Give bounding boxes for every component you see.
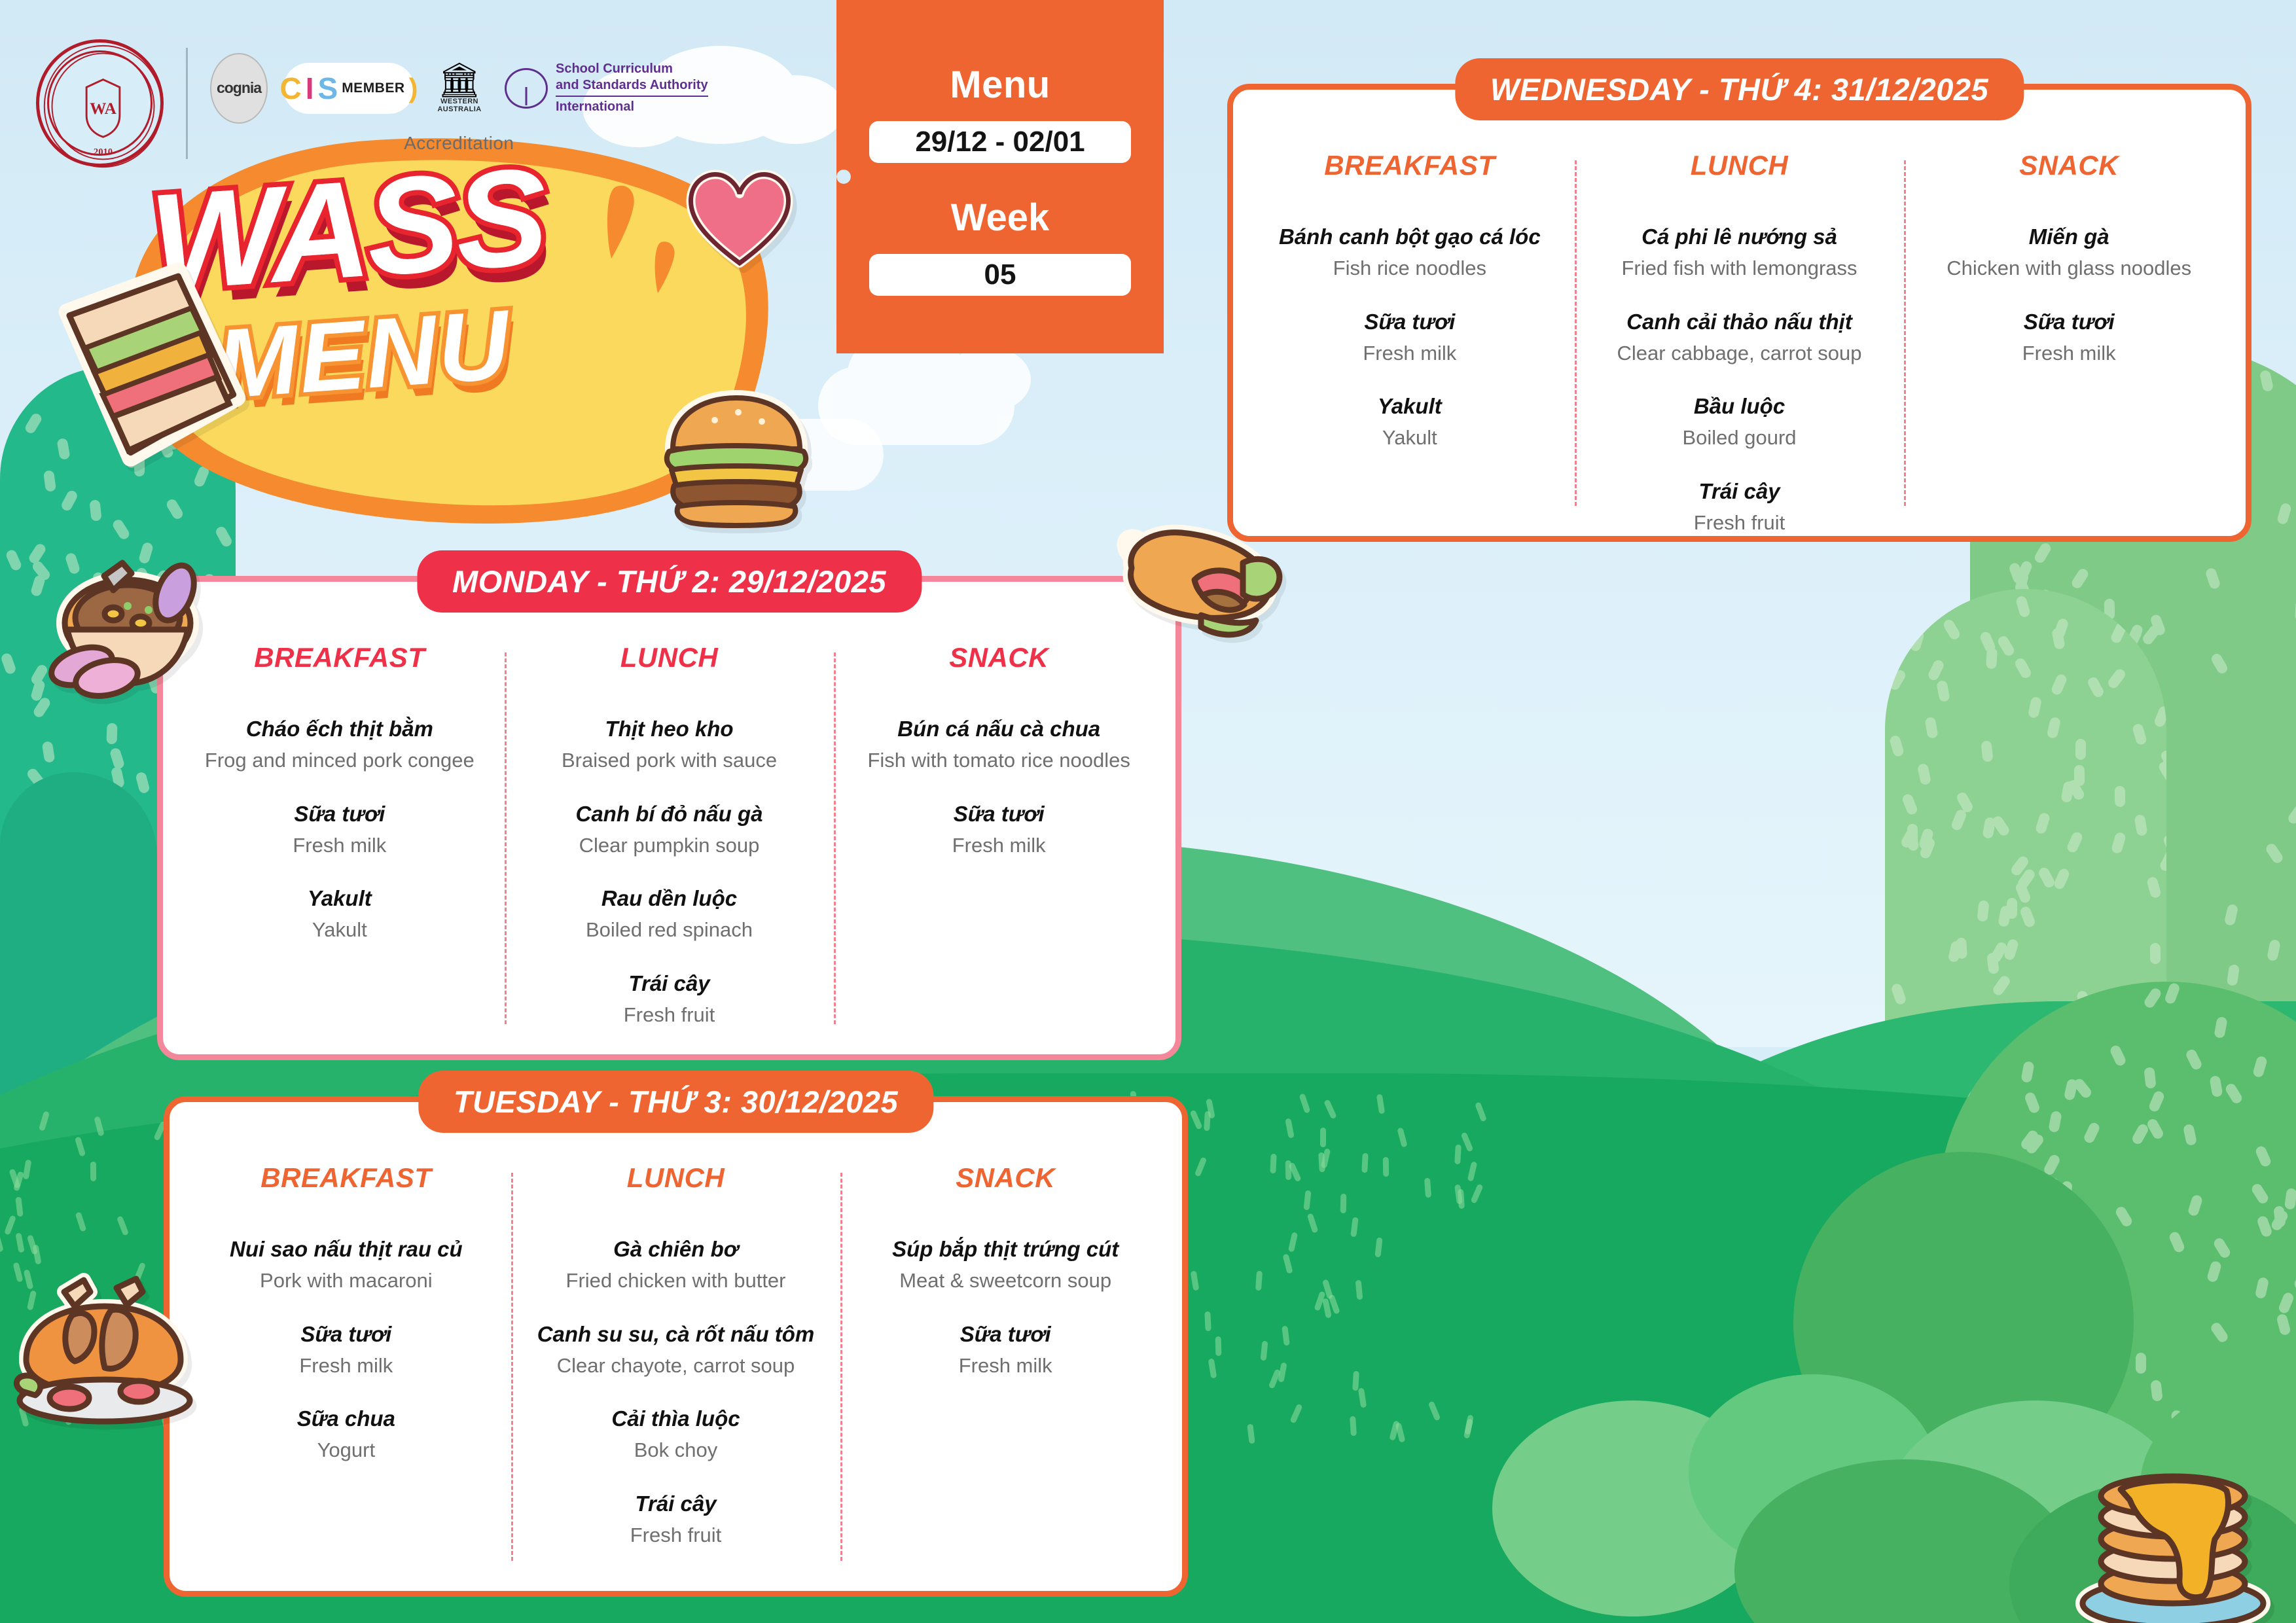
column-lunch: LUNCH Thịt heo khoBraised pork with sauc… bbox=[505, 642, 834, 1035]
item-en: Fresh fruit bbox=[1694, 510, 1785, 536]
item-vn: Sữa tươi bbox=[959, 1321, 1052, 1347]
week-number-field[interactable]: 05 bbox=[869, 254, 1131, 296]
hotdog-sticker bbox=[1109, 517, 1299, 668]
column-breakfast: BREAKFAST Bánh canh bột gạo cá lócFish r… bbox=[1245, 150, 1575, 516]
scsa-line2: and Standards Authority bbox=[556, 77, 708, 94]
item-vn: Trái cây bbox=[624, 970, 715, 997]
menu-panel-title: Menu bbox=[836, 63, 1164, 107]
menu-item: Cá phi lê nướng sảFried fish with lemong… bbox=[1621, 223, 1857, 282]
wass-seal-logo: WA 2010 bbox=[36, 39, 164, 167]
item-vn: Rau dền luộc bbox=[586, 885, 753, 912]
column-snack: SNACK Miến gàChicken with glass noodles … bbox=[1904, 150, 2234, 516]
day-header-tuesday: TUESDAY - THỨ 3: 30/12/2025 bbox=[418, 1071, 933, 1133]
item-vn: Cháo ếch thịt bằm bbox=[205, 715, 475, 742]
menu-item: Gà chiên bơFried chicken with butter bbox=[566, 1236, 786, 1294]
cis-letter-s: S bbox=[318, 71, 338, 106]
column-lunch: LUNCH Cá phi lê nướng sảFried fish with … bbox=[1575, 150, 1905, 516]
item-en: Yogurt bbox=[297, 1437, 395, 1463]
day-card-tuesday: TUESDAY - THỨ 3: 30/12/2025 BREAKFAST Nu… bbox=[164, 1096, 1188, 1597]
week-panel-title: Week bbox=[836, 196, 1164, 240]
pancake-stack-sticker bbox=[2075, 1466, 2271, 1623]
menu-item: Sữa tươiFresh milk bbox=[293, 800, 386, 859]
item-vn: Miến gà bbox=[1946, 223, 2191, 250]
day-header-wednesday: WEDNESDAY - THỨ 4: 31/12/2025 bbox=[1455, 58, 2024, 120]
menu-item: Cháo ếch thịt bằmFrog and minced pork co… bbox=[205, 715, 475, 774]
column-breakfast: BREAKFAST Cháo ếch thịt bằmFrog and minc… bbox=[175, 642, 505, 1035]
item-vn: Yakult bbox=[1378, 393, 1442, 419]
menu-item: Trái câyFresh fruit bbox=[1694, 478, 1785, 537]
roast-chicken-sticker bbox=[7, 1270, 203, 1433]
item-en: Chicken with glass noodles bbox=[1946, 255, 2191, 281]
cis-paren: ) bbox=[409, 73, 418, 104]
day-card-wednesday: WEDNESDAY - THỨ 4: 31/12/2025 BREAKFAST … bbox=[1227, 84, 2251, 542]
item-vn: Canh su su, cà rốt nấu tôm bbox=[537, 1321, 815, 1347]
menu-item: YakultYakult bbox=[1378, 393, 1442, 452]
meal-label-breakfast: BREAKFAST bbox=[254, 642, 425, 673]
item-en: Fresh milk bbox=[1363, 340, 1456, 366]
item-en: Fish with tomato rice noodles bbox=[867, 747, 1130, 774]
menu-poster: WA 2010 cognia C I S MEMBER ) 🏛 WESTE bbox=[0, 0, 2296, 1623]
meal-label-lunch: LUNCH bbox=[1691, 150, 1788, 181]
menu-item: YakultYakult bbox=[308, 885, 372, 944]
column-lunch: LUNCH Gà chiên bơFried chicken with butt… bbox=[511, 1162, 841, 1571]
menu-item: Thịt heo khoBraised pork with sauce bbox=[562, 715, 777, 774]
item-vn: Bún cá nấu cà chua bbox=[867, 715, 1130, 742]
item-vn: Trái cây bbox=[630, 1490, 722, 1517]
cis-letter-c: C bbox=[279, 71, 301, 106]
item-vn: Bánh canh bột gạo cá lóc bbox=[1279, 223, 1541, 250]
menu-item: Canh su su, cà rốt nấu tômClear chayote,… bbox=[537, 1321, 815, 1380]
item-vn: Sữa tươi bbox=[1363, 308, 1456, 335]
menu-item: Sữa tươiFresh milk bbox=[2022, 308, 2116, 367]
scsa-line1: School Curriculum bbox=[556, 61, 708, 77]
cis-member-label: MEMBER bbox=[342, 80, 404, 96]
item-vn: Yakult bbox=[308, 885, 372, 912]
item-vn: Canh bí đỏ nấu gà bbox=[576, 800, 763, 827]
sandwich-sticker bbox=[39, 255, 255, 497]
column-snack: SNACK Bún cá nấu cà chuaFish with tomato… bbox=[834, 642, 1164, 1035]
item-en: Fried fish with lemongrass bbox=[1621, 255, 1857, 281]
item-vn: Cá phi lê nướng sả bbox=[1621, 223, 1857, 250]
heart-sticker bbox=[681, 164, 798, 272]
item-en: Braised pork with sauce bbox=[562, 747, 777, 774]
item-en: Yakult bbox=[308, 917, 372, 943]
item-en: Fresh fruit bbox=[630, 1522, 722, 1548]
crest-label: WESTERN AUSTRALIA bbox=[430, 98, 489, 113]
item-en: Clear chayote, carrot soup bbox=[537, 1353, 815, 1379]
menu-item: Sữa tươiFresh milk bbox=[959, 1321, 1052, 1380]
accreditation-label: Accreditation bbox=[404, 133, 514, 154]
western-australia-crest-logo: 🏛 WESTERN AUSTRALIA bbox=[430, 63, 489, 113]
item-vn: Canh cải thảo nấu thịt bbox=[1617, 308, 1862, 335]
item-en: Fried chicken with butter bbox=[566, 1268, 786, 1294]
day-card-monday: MONDAY - THỨ 2: 29/12/2025 BREAKFAST Chá… bbox=[157, 576, 1181, 1060]
item-en: Fresh milk bbox=[959, 1353, 1052, 1379]
item-en: Meat & sweetcorn soup bbox=[892, 1268, 1119, 1294]
item-en: Fresh milk bbox=[2022, 340, 2116, 366]
menu-item: Sữa tươiFresh milk bbox=[299, 1321, 393, 1380]
menu-item: Súp bắp thịt trứng cútMeat & sweetcorn s… bbox=[892, 1236, 1119, 1294]
scsa-tree-icon bbox=[505, 68, 548, 109]
column-snack: SNACK Súp bắp thịt trứng cútMeat & sweet… bbox=[840, 1162, 1170, 1571]
item-vn: Gà chiên bơ bbox=[566, 1236, 786, 1262]
menu-item: Bánh canh bột gạo cá lócFish rice noodle… bbox=[1279, 223, 1541, 282]
item-en: Fresh milk bbox=[952, 832, 1046, 859]
menu-item: Sữa tươiFresh milk bbox=[952, 800, 1046, 859]
item-vn: Súp bắp thịt trứng cút bbox=[892, 1236, 1119, 1262]
menu-week-panel: Menu 29/12 - 02/01 Week 05 bbox=[836, 0, 1164, 353]
meal-label-snack: SNACK bbox=[956, 1162, 1055, 1194]
item-en: Fresh milk bbox=[293, 832, 386, 859]
cognia-label: cognia bbox=[217, 79, 261, 97]
menu-item: Miến gàChicken with glass noodles bbox=[1946, 223, 2191, 282]
item-vn: Sữa tươi bbox=[952, 800, 1046, 827]
meal-label-snack: SNACK bbox=[2019, 150, 2119, 181]
scsa-international-logo: School Curriculum and Standards Authorit… bbox=[505, 61, 708, 116]
scsa-line3: International bbox=[556, 96, 708, 115]
item-en: Bok choy bbox=[611, 1437, 740, 1463]
congee-bowl-sticker bbox=[36, 550, 213, 720]
cognia-accredited-logo: cognia bbox=[210, 53, 268, 124]
menu-item: Rau dền luộcBoiled red spinach bbox=[586, 885, 753, 944]
menu-item: Bún cá nấu cà chuaFish with tomato rice … bbox=[867, 715, 1130, 774]
item-en: Boiled red spinach bbox=[586, 917, 753, 943]
menu-item: Canh cải thảo nấu thịtClear cabbage, car… bbox=[1617, 308, 1862, 367]
item-vn: Sữa tươi bbox=[299, 1321, 393, 1347]
meal-label-breakfast: BREAKFAST bbox=[1324, 150, 1495, 181]
burger-sticker bbox=[655, 386, 818, 530]
item-en: Fresh fruit bbox=[624, 1002, 715, 1028]
item-vn: Sữa tươi bbox=[293, 800, 386, 827]
svg-text:2010: 2010 bbox=[94, 147, 113, 158]
divider bbox=[186, 48, 188, 159]
meal-label-lunch: LUNCH bbox=[627, 1162, 725, 1194]
item-en: Pork with macaroni bbox=[230, 1268, 463, 1294]
menu-item: Canh bí đỏ nấu gàClear pumpkin soup bbox=[576, 800, 763, 859]
item-vn: Trái cây bbox=[1694, 478, 1785, 505]
item-en: Clear pumpkin soup bbox=[576, 832, 763, 859]
item-en: Boiled gourd bbox=[1682, 425, 1796, 451]
menu-item: Sữa chuaYogurt bbox=[297, 1405, 395, 1464]
menu-item: Cải thìa luộcBok choy bbox=[611, 1405, 740, 1464]
item-vn: Sữa chua bbox=[297, 1405, 395, 1432]
item-en: Fish rice noodles bbox=[1279, 255, 1541, 281]
item-vn: Cải thìa luộc bbox=[611, 1405, 740, 1432]
day-header-monday: MONDAY - THỨ 2: 29/12/2025 bbox=[417, 550, 922, 613]
item-vn: Sữa tươi bbox=[2022, 308, 2116, 335]
item-vn: Thịt heo kho bbox=[562, 715, 777, 742]
menu-item: Sữa tươiFresh milk bbox=[1363, 308, 1456, 367]
item-en: Frog and minced pork congee bbox=[205, 747, 475, 774]
item-en: Yakult bbox=[1378, 425, 1442, 451]
meal-label-lunch: LUNCH bbox=[620, 642, 718, 673]
meal-label-snack: SNACK bbox=[949, 642, 1049, 673]
menu-item: Nui sao nấu thịt rau củPork with macaron… bbox=[230, 1236, 463, 1294]
menu-title: MENU bbox=[213, 288, 514, 421]
item-vn: Bầu luộc bbox=[1682, 393, 1796, 419]
svg-text:WA: WA bbox=[90, 99, 117, 118]
date-range-field[interactable]: 29/12 - 02/01 bbox=[869, 121, 1131, 163]
meal-label-breakfast: BREAKFAST bbox=[260, 1162, 431, 1194]
brand-bar: WA 2010 cognia C I S MEMBER ) 🏛 WESTE bbox=[36, 39, 708, 167]
menu-item: Trái câyFresh fruit bbox=[624, 970, 715, 1029]
menu-item: Bầu luộcBoiled gourd bbox=[1682, 393, 1796, 452]
cis-member-logo: C I S MEMBER ) bbox=[283, 63, 414, 114]
item-en: Clear cabbage, carrot soup bbox=[1617, 340, 1862, 366]
crest-icon: 🏛 bbox=[430, 63, 489, 98]
item-en: Fresh milk bbox=[299, 1353, 393, 1379]
cis-letter-i: I bbox=[306, 71, 314, 106]
item-vn: Nui sao nấu thịt rau củ bbox=[230, 1236, 463, 1262]
menu-item: Trái câyFresh fruit bbox=[630, 1490, 722, 1549]
column-breakfast: BREAKFAST Nui sao nấu thịt rau củPork wi… bbox=[181, 1162, 511, 1571]
